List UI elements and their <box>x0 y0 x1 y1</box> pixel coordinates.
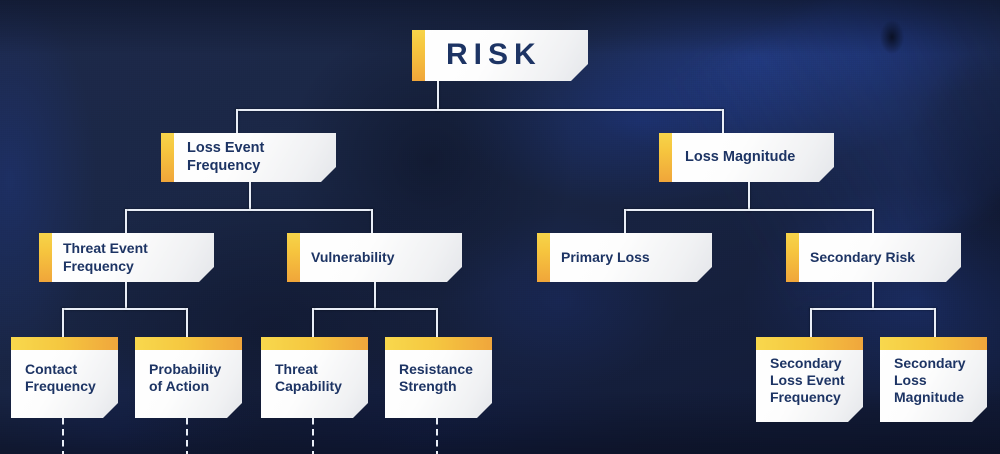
connector-tail-contact-frequency <box>62 418 64 454</box>
connector-vuln-down <box>374 282 376 310</box>
node-loss-event-frequency-label: Loss Event Frequency <box>161 140 264 175</box>
connector-lm-down <box>748 182 750 211</box>
resistance-strength-line1: Resistance <box>399 361 473 377</box>
node-threat-capability[interactable]: Threat Capability <box>261 337 368 418</box>
node-risk[interactable]: RISK <box>412 30 588 81</box>
connector-tail-probability-of-action <box>186 418 188 454</box>
probability-of-action-line1: Probability <box>149 361 221 377</box>
node-loss-event-frequency[interactable]: Loss Event Frequency <box>161 133 336 182</box>
connector-vuln-bus <box>312 308 438 310</box>
connector-lm-bus <box>624 209 874 211</box>
connector-risk-down <box>437 81 439 111</box>
contact-frequency-line1: Contact <box>25 361 77 377</box>
node-secondary-loss-event-frequency-label: Secondary Loss Event Frequency <box>756 337 845 406</box>
node-vulnerability[interactable]: Vulnerability <box>287 233 462 282</box>
threat-capability-line2: Capability <box>275 378 342 394</box>
node-probability-of-action[interactable]: Probability of Action <box>135 337 242 418</box>
node-secondary-risk[interactable]: Secondary Risk <box>786 233 961 282</box>
loss-event-frequency-line1: Loss Event <box>187 140 264 156</box>
connector-to-vuln <box>371 209 373 233</box>
node-resistance-strength-label: Resistance Strength <box>385 337 473 395</box>
node-threat-capability-label: Threat Capability <box>261 337 342 395</box>
connector-to-secondary-lef <box>810 308 812 338</box>
secondary-lm-line2: Loss <box>894 372 927 388</box>
connector-to-lef <box>236 109 238 133</box>
connector-to-threat-capability <box>312 308 314 338</box>
connector-tail-threat-capability <box>312 418 314 454</box>
connector-tail-resistance-strength <box>436 418 438 454</box>
connector-secrisk-bus <box>810 308 936 310</box>
node-loss-magnitude[interactable]: Loss Magnitude <box>659 133 834 182</box>
threat-event-frequency-line2: Frequency <box>63 258 134 274</box>
connector-to-tef <box>125 209 127 233</box>
secondary-lef-line3: Frequency <box>770 389 841 405</box>
node-threat-event-frequency[interactable]: Threat Event Frequency <box>39 233 214 282</box>
node-primary-loss[interactable]: Primary Loss <box>537 233 712 282</box>
node-risk-label: RISK <box>412 37 542 74</box>
connector-tier2-bus <box>236 109 724 111</box>
secondary-lef-line2: Loss Event <box>770 372 845 388</box>
connector-to-secondary-lm <box>934 308 936 338</box>
loss-event-frequency-line2: Frequency <box>187 158 260 174</box>
node-loss-magnitude-label: Loss Magnitude <box>659 149 795 167</box>
contact-frequency-line2: Frequency <box>25 378 96 394</box>
node-vulnerability-label: Vulnerability <box>287 249 395 266</box>
connector-lef-bus <box>125 209 373 211</box>
risk-taxonomy-diagram: RISK Loss Event Frequency Loss Magnitude… <box>0 0 1000 454</box>
node-secondary-loss-event-frequency[interactable]: Secondary Loss Event Frequency <box>756 337 863 422</box>
connector-tef-down <box>125 282 127 310</box>
node-primary-loss-label: Primary Loss <box>537 249 650 266</box>
connector-lef-down <box>249 182 251 211</box>
connector-to-contact-frequency <box>62 308 64 338</box>
node-secondary-loss-magnitude-label: Secondary Loss Magnitude <box>880 337 966 406</box>
secondary-lm-line1: Secondary <box>894 355 966 371</box>
connector-to-probability-of-action <box>186 308 188 338</box>
threat-event-frequency-line1: Threat Event <box>63 240 148 256</box>
resistance-strength-line2: Strength <box>399 378 457 394</box>
connector-to-secondary <box>872 209 874 233</box>
node-secondary-risk-label: Secondary Risk <box>786 249 915 266</box>
probability-of-action-line2: of Action <box>149 378 209 394</box>
node-probability-of-action-label: Probability of Action <box>135 337 221 395</box>
threat-capability-line1: Threat <box>275 361 318 377</box>
connector-tef-bus <box>62 308 188 310</box>
secondary-lm-line3: Magnitude <box>894 389 964 405</box>
connector-to-lm <box>722 109 724 133</box>
node-resistance-strength[interactable]: Resistance Strength <box>385 337 492 418</box>
node-contact-frequency-label: Contact Frequency <box>11 337 96 395</box>
connector-to-resistance-strength <box>436 308 438 338</box>
connector-to-primary <box>624 209 626 233</box>
node-secondary-loss-magnitude[interactable]: Secondary Loss Magnitude <box>880 337 987 422</box>
node-contact-frequency[interactable]: Contact Frequency <box>11 337 118 418</box>
secondary-lef-line1: Secondary <box>770 355 842 371</box>
node-threat-event-frequency-label: Threat Event Frequency <box>39 240 148 274</box>
connector-secrisk-down <box>872 282 874 310</box>
